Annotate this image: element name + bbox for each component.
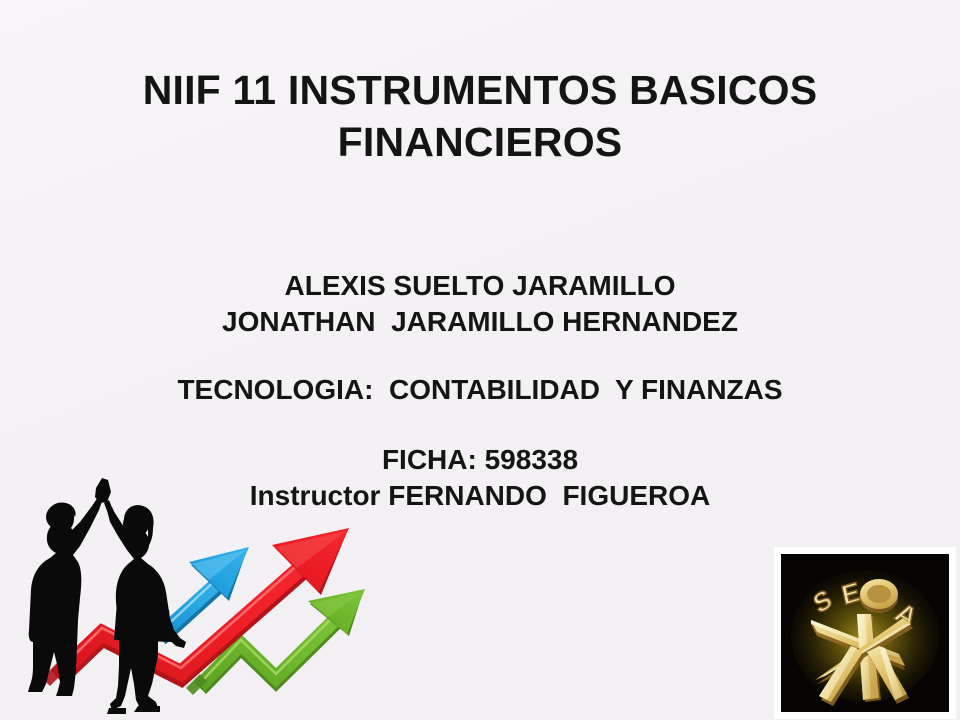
program-name: TECNOLOGIA: CONTABILIDAD Y FINANZAS [0,372,960,408]
sena-logo-artwork: S E N A [781,554,949,712]
instructor-name: Instructor FERNANDO FIGUEROA [0,478,960,514]
title-line-2: FINANCIEROS [0,116,960,168]
ficha-number: FICHA: 598338 [0,442,960,478]
presentation-slide: NIIF 11 INSTRUMENTOS BASICOS FINANCIEROS… [0,0,960,720]
page-title: NIIF 11 INSTRUMENTOS BASICOS FINANCIEROS [0,64,960,168]
sena-logo: S E N A [774,547,956,719]
author-name-2: JONATHAN JARAMILLO HERNANDEZ [0,304,960,340]
credits-block: ALEXIS SUELTO JARAMILLO JONATHAN JARAMIL… [0,268,960,514]
author-name-1: ALEXIS SUELTO JARAMILLO [0,268,960,304]
title-line-1: NIIF 11 INSTRUMENTOS BASICOS [0,64,960,116]
